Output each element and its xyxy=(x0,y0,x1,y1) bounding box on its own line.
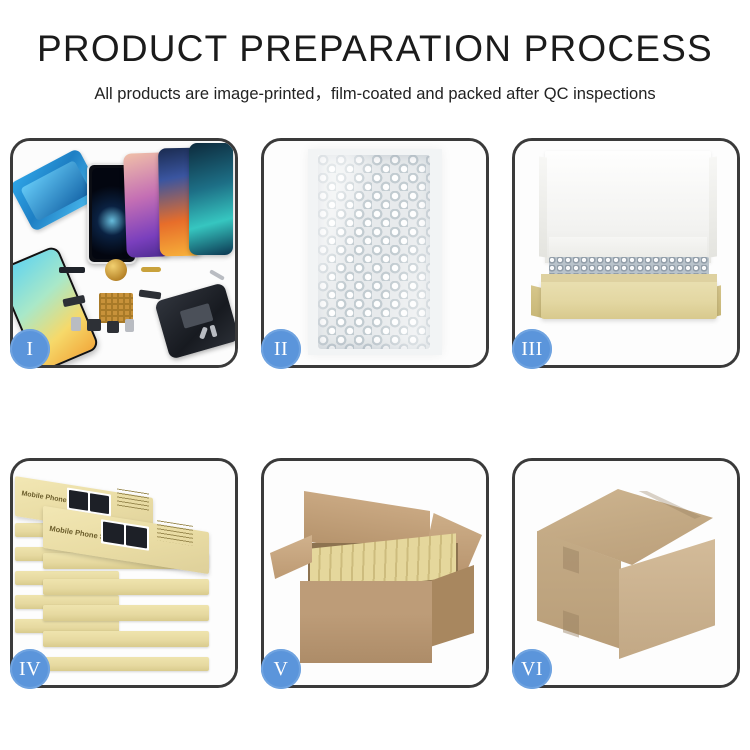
photo-open-carton-with-boxes xyxy=(264,461,486,685)
panel-badge-2: II xyxy=(261,329,301,369)
process-panel-grid: I II III xyxy=(10,138,740,688)
phone-back-housing xyxy=(154,282,235,360)
flex-cable-part xyxy=(59,267,85,273)
mailer-box-base xyxy=(541,281,717,319)
panel-badge-4: IV xyxy=(10,649,50,689)
carton-front-face xyxy=(300,581,432,663)
panel-badge-5: V xyxy=(261,649,301,689)
carton-left-flap xyxy=(270,535,312,579)
photo-stacked-retail-boxes: Mobile Phone Spare Parts Mobile Phone Sp… xyxy=(13,461,235,685)
sealed-carton-tape-lower xyxy=(563,610,579,637)
process-panel-5: V xyxy=(261,458,489,688)
retail-box-r2 xyxy=(43,579,209,595)
panel-badge-1: I xyxy=(10,329,50,369)
phone-screen-teal xyxy=(189,143,233,255)
photo-bubble-wrapped-product xyxy=(264,141,486,365)
sim-tray-part xyxy=(125,319,134,332)
battery-connector-part xyxy=(107,321,119,333)
process-panel-3: III xyxy=(512,138,740,368)
speaker-part xyxy=(71,317,81,331)
process-panel-2: II xyxy=(261,138,489,368)
retail-box-r4 xyxy=(43,631,209,647)
photo-sealed-shipping-carton xyxy=(515,461,737,685)
process-panel-6: VI xyxy=(512,458,740,688)
antenna-part xyxy=(141,267,161,272)
bubble-wrap-bubbles xyxy=(318,155,430,349)
process-panel-1: I xyxy=(10,138,238,368)
retail-box-r3 xyxy=(43,605,209,621)
retail-box-r5 xyxy=(43,657,209,671)
page-header: PRODUCT PREPARATION PROCESS All products… xyxy=(0,0,750,104)
power-flex-part xyxy=(139,290,162,300)
page-title: PRODUCT PREPARATION PROCESS xyxy=(0,30,750,69)
tweezers-part xyxy=(209,269,225,280)
process-panel-4: Mobile Phone Spare Parts Mobile Phone Sp… xyxy=(10,458,238,688)
vibrator-motor-part xyxy=(105,259,127,281)
photo-open-mailer-box xyxy=(515,141,737,365)
page-subtitle: All products are image-printed，film-coat… xyxy=(0,80,750,104)
panel-badge-3: III xyxy=(512,329,552,369)
camera-module-part xyxy=(87,319,101,331)
photo-phone-screens-and-spare-parts xyxy=(13,141,235,365)
panel-badge-6: VI xyxy=(512,649,552,689)
